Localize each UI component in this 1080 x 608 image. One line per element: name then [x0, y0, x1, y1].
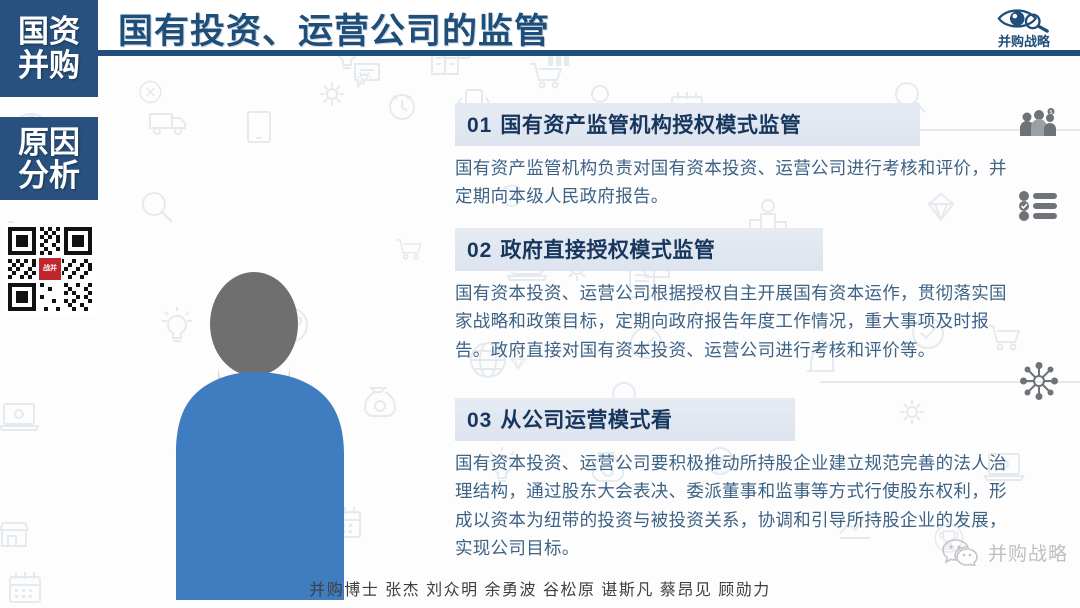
- sidebar-tag-2-line1: 原因: [18, 127, 80, 158]
- wechat-watermark-label: 并购战略: [988, 539, 1068, 566]
- section-03-body: 国有资本投资、运营公司要积极推动所持股企业建立规范完善的法人治理结构，通过股东大…: [455, 449, 1020, 562]
- section-03-title: 从公司运营模式看: [500, 409, 672, 432]
- section-02: 02政府直接授权模式监管 国有资本投资、运营公司根据授权自主开展国有资本运作，贯…: [455, 228, 1020, 364]
- people-group-badge-icon: $: [1018, 108, 1058, 143]
- section-01-title: 国有资产监管机构授权模式监管: [500, 114, 801, 137]
- svg-text:$: $: [1050, 110, 1053, 116]
- sidebar-tag-guozi-binggou[interactable]: 国资 并购: [0, 0, 98, 97]
- section-03: 03从公司运营模式看 国有资本投资、运营公司要积极推动所持股企业建立规范完善的法…: [455, 398, 1020, 562]
- brand-logo: 并购战略: [978, 4, 1070, 50]
- page-title: 国有投资、运营公司的监管: [118, 3, 550, 54]
- sidebar-tag-1-line1: 国资: [18, 16, 80, 47]
- section-02-body: 国有资本投资、运营公司根据授权自主开展国有资本运作，贯彻落实国家战略和政策目标，…: [455, 279, 1020, 364]
- person-silhouette: [150, 272, 410, 608]
- qr-code[interactable]: 战并: [4, 223, 96, 315]
- section-02-title: 政府直接授权模式监管: [500, 239, 715, 262]
- section-01-heading: 01国有资产监管机构授权模式监管: [455, 103, 920, 146]
- sidebar-tag-yuanyin-fenxi[interactable]: 原因 分析: [0, 117, 98, 200]
- section-03-heading: 03从公司运营模式看: [455, 398, 795, 441]
- qr-center-seal: 战并: [38, 257, 62, 281]
- section-01-number: 01: [467, 114, 492, 137]
- section-02-heading: 02政府直接授权模式监管: [455, 228, 823, 271]
- section-02-number: 02: [467, 239, 492, 262]
- wechat-icon: [941, 538, 981, 566]
- wechat-watermark: 并购战略: [941, 538, 1068, 566]
- brand-logo-label: 并购战略: [998, 31, 1050, 50]
- section-01: 01国有资产监管机构授权模式监管 国有资产监管机构负责对国有资本投资、运营公司进…: [455, 103, 1015, 211]
- network-hub-icon: [1020, 362, 1058, 405]
- slide-root: 国有投资、运营公司的监管 并购战略 国资 并购 原因 分析: [0, 0, 1080, 608]
- footer-credits: 并购博士 张杰 刘众明 余勇波 谷松原 谌斯凡 蔡昂见 顾勋力: [0, 576, 1080, 600]
- sidebar-tag-2-line2: 分析: [18, 160, 80, 191]
- checklist-icon: [1018, 190, 1058, 227]
- qr-seal-line1: 战并: [43, 265, 57, 272]
- section-01-body: 国有资产监管机构负责对国有资本投资、运营公司进行考核和评价，并定期向本级人民政府…: [455, 154, 1015, 211]
- sidebar-tag-1-line2: 并购: [18, 50, 80, 81]
- section-03-number: 03: [467, 409, 492, 432]
- eye-magnifier-icon: [994, 4, 1054, 33]
